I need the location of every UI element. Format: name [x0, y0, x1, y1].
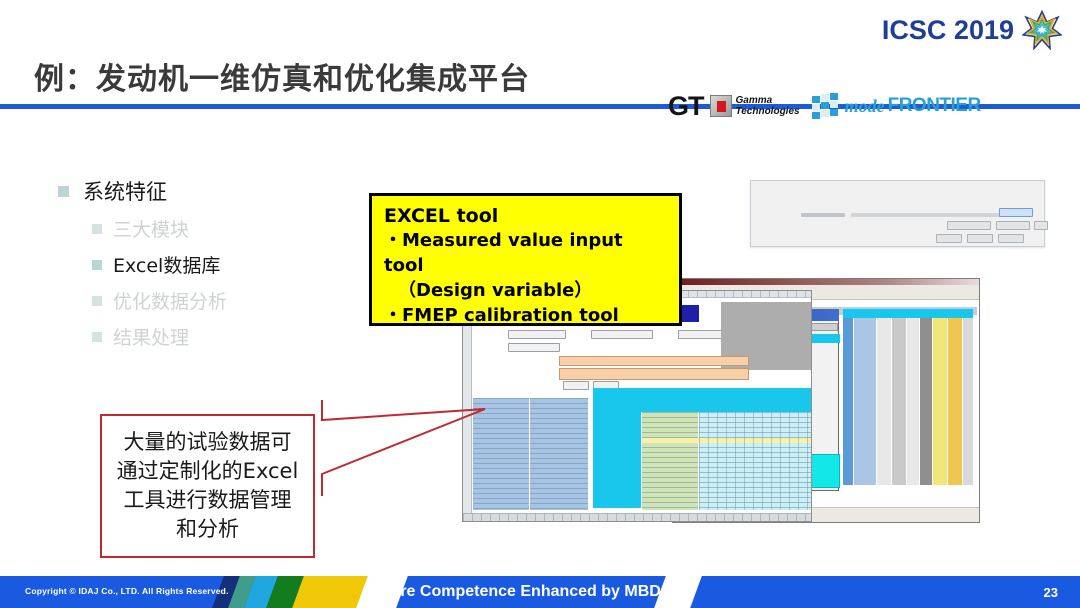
gamma-technologies-wordmark: Gamma Technologies [736, 95, 800, 117]
callout-line-4: 和分析 [176, 515, 239, 544]
modefrontier-frontier-text: FRONTIER [888, 95, 981, 117]
screenshot-dialog-window [750, 180, 1045, 247]
callout-line-3: 工具进行数据管理 [124, 486, 292, 515]
feature-bullet-list: 系统特征 三大模块 Excel数据库 优化数据分析 结果处理 [58, 176, 227, 359]
conference-logo: ICSC 2019 [882, 10, 1062, 50]
gamma-line-2: Technologies [736, 106, 800, 117]
bullet-square-icon [92, 332, 102, 342]
bullet-item-result-processing: 结果处理 [92, 323, 227, 350]
bullet-item-level1: 系统特征 [58, 176, 227, 206]
page-title: 例：发动机一维仿真和优化集成平台 [34, 54, 530, 98]
callout-line-1: 大量的试验数据可 [124, 428, 292, 457]
bullet-label: 优化数据分析 [113, 287, 227, 314]
copyright-text: Copyright © IDAJ Co., LTD. All Rights Re… [25, 586, 229, 596]
callout-line-1: ・Measured value input tool [384, 228, 667, 278]
callout-line-2: 通过定制化的Excel [117, 457, 299, 486]
footer-tagline: Core Competence Enhanced by MBD [379, 583, 661, 601]
gt-mark-icon [710, 95, 732, 117]
gt-logo-text: GT [668, 91, 704, 122]
callout-line-3: ・FMEP calibration tool [384, 303, 667, 328]
bullet-square-icon [92, 224, 102, 234]
callout-line-2: （Design variable） [384, 278, 667, 303]
bullet-label: 系统特征 [83, 176, 167, 206]
bullet-square-icon [92, 296, 102, 306]
bullet-item-optimization-analysis: 优化数据分析 [92, 287, 227, 314]
callout-title: EXCEL tool [384, 204, 667, 228]
excel-tool-callout: EXCEL tool ・Measured value input tool （D… [369, 193, 682, 326]
bullet-label: 结果处理 [113, 323, 189, 350]
modefrontier-cube-icon [810, 92, 840, 120]
modefrontier-mode-text: mode [845, 96, 885, 117]
bullet-item-modules: 三大模块 [92, 215, 227, 242]
worksheet-area: 設計パラメータ入力ツール [463, 298, 811, 513]
bullet-label: Excel数据库 [113, 251, 220, 278]
callout-pointer-arrow [310, 392, 490, 502]
bullet-square-icon [58, 186, 69, 197]
page-number: 23 [1044, 585, 1058, 600]
icsc-star-icon [1022, 10, 1062, 50]
slide-root: ICSC 2019 例：发动机一维仿真和优化集成平台 GT Gamma Tech… [0, 0, 1080, 608]
bullet-square-icon [92, 260, 102, 270]
gamma-line-1: Gamma [736, 95, 800, 106]
slide-footer: Copyright © IDAJ Co., LTD. All Rights Re… [0, 576, 1080, 608]
partner-logos: GT Gamma Technologies mode FRONTIER [668, 86, 1008, 126]
sheet-tabs [463, 513, 811, 521]
bullet-item-excel-db: Excel数据库 [92, 251, 227, 278]
conference-logo-text: ICSC 2019 [882, 15, 1014, 46]
bullet-label: 三大模块 [113, 215, 189, 242]
data-management-callout: 大量的试验数据可 通过定制化的Excel 工具进行数据管理 和分析 [100, 414, 315, 558]
